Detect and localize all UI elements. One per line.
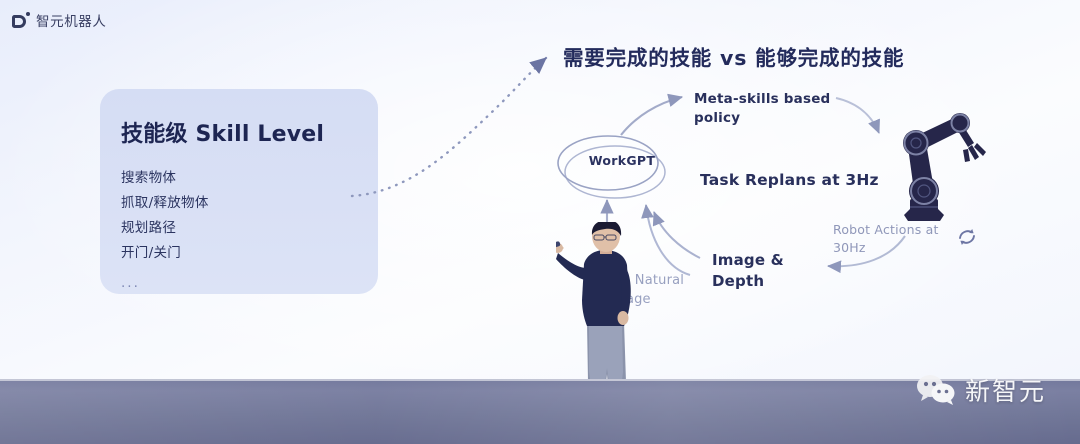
list-item: 抓取/释放物体 xyxy=(121,191,378,216)
screenshot-root: 智元机器人 技能级 Skill Level 搜索物体 抓取/释放物体 规划路径 … xyxy=(0,0,1080,444)
robot-actions-label: Robot Actions at 30Hz xyxy=(833,221,939,257)
image-depth-line2: Depth xyxy=(712,271,784,292)
skill-level-card: 技能级 Skill Level 搜索物体 抓取/释放物体 规划路径 开门/关门 … xyxy=(100,89,378,294)
image-depth-label: Image & Depth xyxy=(712,250,784,292)
image-depth-line1: Image & xyxy=(712,250,784,271)
list-item: 搜索物体 xyxy=(121,166,378,191)
brand-logo: 智元机器人 xyxy=(12,10,107,30)
skill-card-title: 技能级 Skill Level xyxy=(121,116,378,148)
zhiyuan-d-logo-icon xyxy=(12,12,29,29)
workgpt-node-label: WorkGPT xyxy=(576,153,668,168)
list-item: 开门/关门 xyxy=(121,241,378,266)
brand-name: 智元机器人 xyxy=(36,10,107,30)
watermark-text: 新智元 xyxy=(965,372,1046,408)
skill-list: 搜索物体 抓取/释放物体 规划路径 开门/关门 ... xyxy=(121,166,378,296)
robot-arm-photo xyxy=(880,103,992,225)
list-item: 规划路径 xyxy=(121,216,378,241)
wechat-icon xyxy=(915,374,957,406)
slide-headline: 需要完成的技能 vs 能够完成的技能 xyxy=(563,41,904,71)
meta-skills-line2: policy xyxy=(694,109,830,128)
robot-actions-line2: 30Hz xyxy=(833,239,939,257)
list-item-ellipsis: ... xyxy=(121,266,378,296)
channel-watermark: 新智元 xyxy=(915,372,1046,408)
task-replans-label: Task Replans at 3Hz xyxy=(700,171,879,189)
meta-skills-label: Meta-skills based policy xyxy=(694,90,830,128)
meta-skills-line1: Meta-skills based xyxy=(694,90,830,109)
